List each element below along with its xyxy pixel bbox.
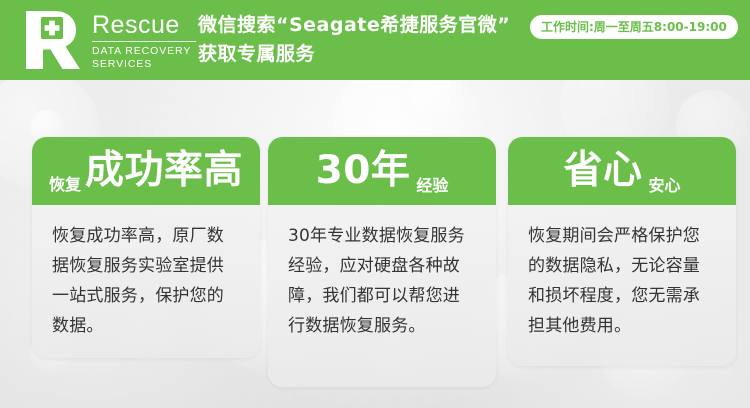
feature-head-main: 省心	[563, 149, 642, 193]
feature-card-body: 恢复期间会严格保护您的数据隐私，无论容量和损坏程度，您无需承担其他费用。	[508, 205, 736, 355]
feature-card-header: 省心 安心	[508, 137, 736, 205]
feature-card: 恢复 成功率高 恢复成功率高，原厂数据恢复服务实验室提供一站式服务，保护您的数据…	[32, 137, 260, 358]
feature-card-body: 30年专业数据恢复服务经验，应对硬盘各种故障，我们都可以帮您进行数据恢复服务。	[268, 205, 496, 355]
feature-head-suffix: 经验	[416, 176, 448, 196]
feature-head-suffix: 安心	[649, 176, 681, 196]
feature-card: 省心 安心 恢复期间会严格保护您的数据隐私，无论容量和损坏程度，您无需承担其他费…	[508, 137, 736, 366]
feature-head-prefix: 恢复	[49, 175, 81, 195]
feature-head-main: 成功率高	[85, 149, 243, 193]
feature-card-list: 恢复 成功率高 恢复成功率高，原厂数据恢复服务实验室提供一站式服务，保护您的数据…	[0, 0, 750, 408]
feature-head-main: 30年	[316, 149, 411, 193]
feature-card-header: 30年 经验	[268, 137, 496, 205]
feature-card: 30年 经验 30年专业数据恢复服务经验，应对硬盘各种故障，我们都可以帮您进行数…	[268, 137, 496, 387]
feature-card-body: 恢复成功率高，原厂数据恢复服务实验室提供一站式服务，保护您的数据。	[32, 205, 260, 355]
feature-card-header: 恢复 成功率高	[32, 137, 260, 205]
promo-banner: Rescue DATA RECOVERY SERVICES 微信搜索“Seaga…	[0, 0, 750, 408]
